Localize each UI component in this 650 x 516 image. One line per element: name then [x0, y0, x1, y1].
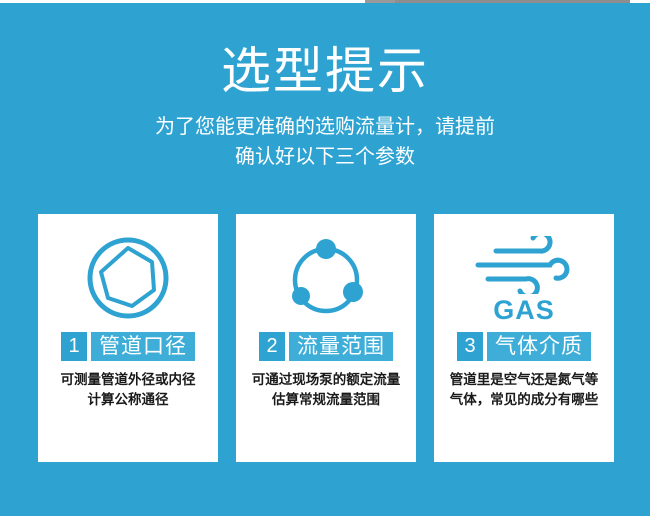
subtitle-line-2: 确认好以下三个参数	[0, 142, 650, 172]
card-3-description: 管道里是空气还是氮气等 气体，常见的成分有哪些	[438, 370, 610, 410]
card-1-desc-line-1: 可测量管道外径或内径	[42, 370, 214, 390]
feature-card-1[interactable]: 1 管道口径 可测量管道外径或内径 计算公称通径	[38, 214, 218, 462]
subtitle-line-1: 为了您能更准确的选购流量计，请提前	[0, 112, 650, 142]
feature-card-2[interactable]: 2 流量范围 可通过现场泵的额定流量 估算常规流量范围	[236, 214, 416, 462]
flow-range-icon	[282, 234, 370, 322]
card-3-desc-line-2: 气体，常见的成分有哪些	[438, 390, 610, 410]
feature-card-list: 1 管道口径 可测量管道外径或内径 计算公称通径 2 流量范围 可通过现场泵的额…	[38, 214, 614, 462]
gas-label: GAS	[493, 296, 555, 324]
card-1-description: 可测量管道外径或内径 计算公称通径	[42, 370, 214, 410]
card-1-desc-line-2: 计算公称通径	[42, 390, 214, 410]
gas-wind-icon	[474, 236, 574, 294]
card-2-icon-area	[236, 214, 416, 326]
card-1-title: 管道口径	[91, 332, 195, 361]
feature-card-3[interactable]: GAS 3 气体介质 管道里是空气还是氮气等 气体，常见的成分有哪些	[434, 214, 614, 462]
card-1-badge: 1 管道口径	[61, 332, 195, 361]
header: 选型提示 为了您能更准确的选购流量计，请提前 确认好以下三个参数	[0, 0, 650, 172]
card-3-icon-area: GAS	[434, 214, 614, 326]
subtitle: 为了您能更准确的选购流量计，请提前 确认好以下三个参数	[0, 112, 650, 172]
page-title: 选型提示	[0, 42, 650, 100]
card-1-number: 1	[61, 332, 87, 361]
card-2-title: 流量范围	[289, 332, 393, 361]
card-2-desc-line-2: 估算常规流量范围	[240, 390, 412, 410]
card-2-desc-line-1: 可通过现场泵的额定流量	[240, 370, 412, 390]
card-1-icon-area	[38, 214, 218, 326]
card-3-badge: 3 气体介质	[457, 332, 591, 361]
card-2-description: 可通过现场泵的额定流量 估算常规流量范围	[240, 370, 412, 410]
card-2-badge: 2 流量范围	[259, 332, 393, 361]
pipe-diameter-icon	[84, 234, 172, 322]
card-3-number: 3	[457, 332, 483, 361]
card-3-desc-line-1: 管道里是空气还是氮气等	[438, 370, 610, 390]
card-3-title: 气体介质	[487, 332, 591, 361]
card-2-number: 2	[259, 332, 285, 361]
